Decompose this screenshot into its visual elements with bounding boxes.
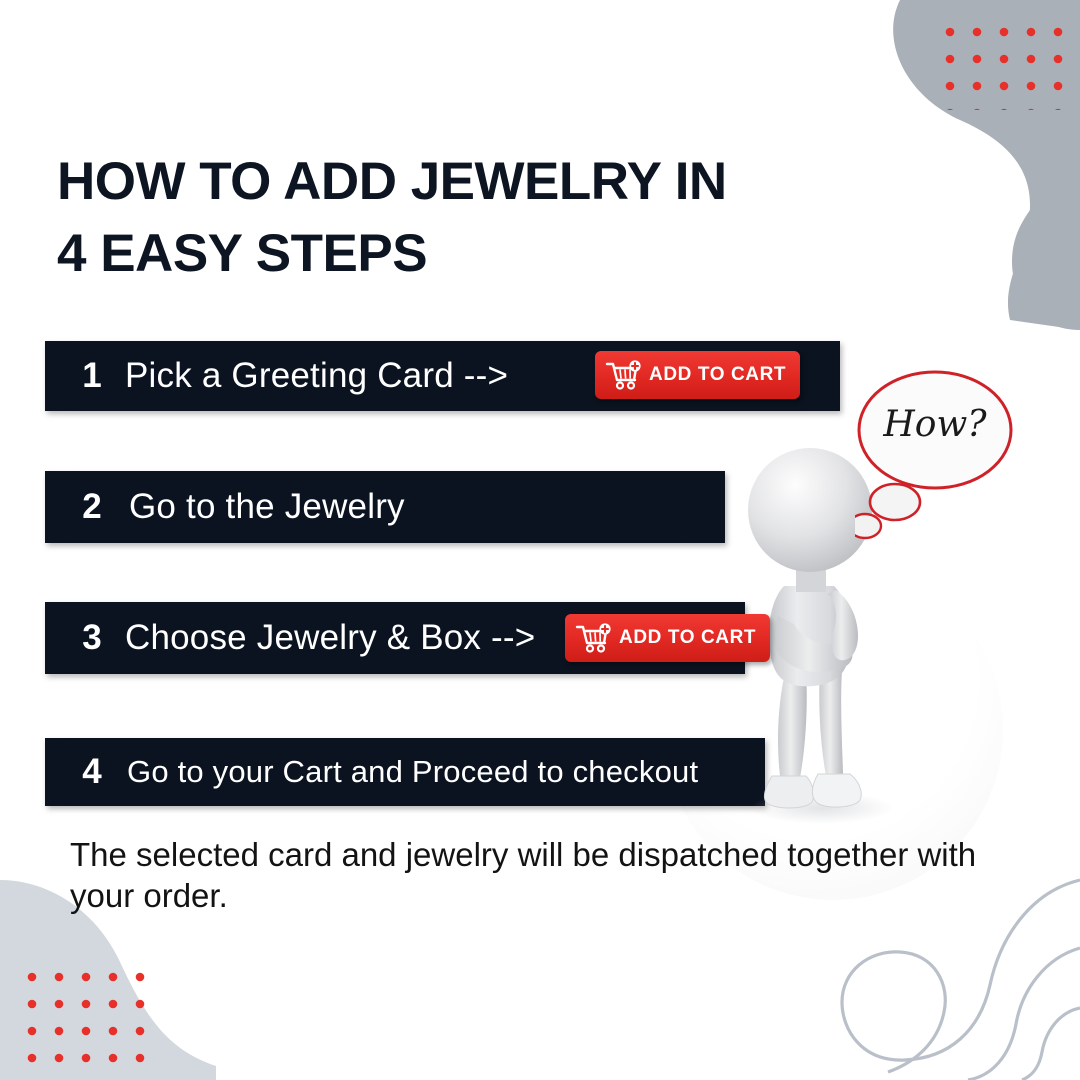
figure-shoe-right [812,774,861,807]
add-to-cart-label-step-3: ADD TO CART [619,627,756,649]
infographic-canvas: HOW TO ADD JEWELRY IN 4 EASY STEPS 1 Pic… [0,0,1080,1080]
figure-shoe-left [764,776,813,808]
step-label-1: Pick a Greeting Card --> [125,356,508,396]
step-label-2: Go to the Jewelry [129,487,405,527]
step-banner-4: 4 Go to your Cart and Proceed to checkou… [45,738,765,806]
step-number-2: 2 [75,487,109,527]
step-label-4: Go to your Cart and Proceed to checkout [127,754,698,790]
figure-head [748,448,872,572]
shopping-cart-plus-icon [575,623,611,653]
step-number-1: 1 [75,356,109,396]
bottom-left-dot-grid [8,952,153,1080]
page-title-line-2: 4 EASY STEPS [57,218,877,290]
thought-bubble-small [855,514,881,538]
page-title-line-1: HOW TO ADD JEWELRY IN [57,146,877,218]
step-number-4: 4 [75,752,109,792]
add-to-cart-label-step-1: ADD TO CART [649,364,786,386]
figure-leg-right [819,668,843,786]
add-to-cart-button-step-3[interactable]: ADD TO CART [565,614,770,662]
shopping-cart-plus-icon [605,360,641,390]
thought-bubble-icon [855,368,1055,543]
step-label-3: Choose Jewelry & Box --> [125,618,535,658]
footer-note: The selected card and jewelry will be di… [70,834,990,916]
top-right-dot-grid [925,8,1070,118]
add-to-cart-button-step-1[interactable]: ADD TO CART [595,351,800,399]
thought-bubble-text: How? [855,404,1015,445]
step-number-3: 3 [75,618,109,658]
thought-bubble-medium [870,484,920,520]
step-banner-2: 2 Go to the Jewelry [45,471,725,543]
page-title: HOW TO ADD JEWELRY IN 4 EASY STEPS [57,146,877,290]
